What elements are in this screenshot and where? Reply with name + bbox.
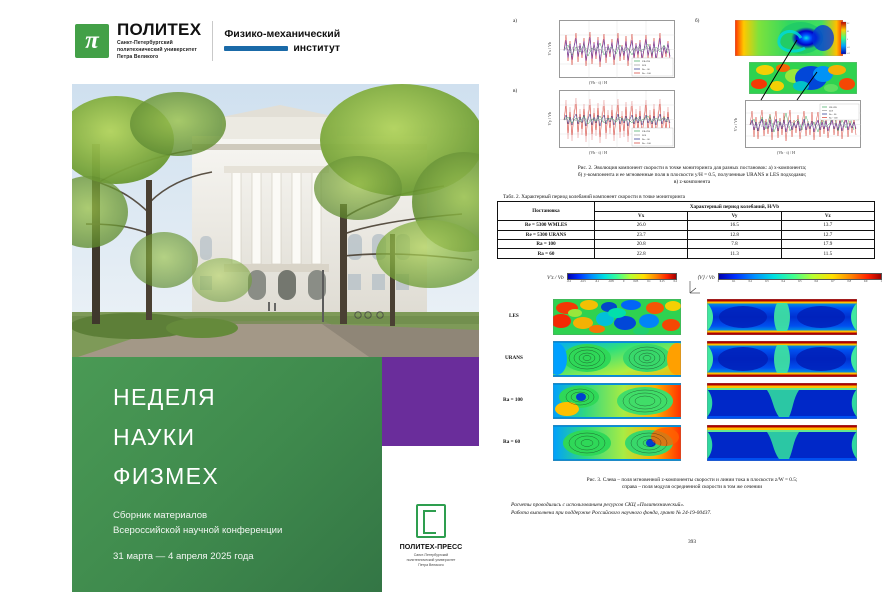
polytech-brand: ПОЛИТЕХ — [117, 21, 201, 38]
press-name: ПОЛИТЕХ-ПРЕСС — [395, 543, 467, 551]
fig2-chart-b-ylabel: V'z / Vb — [733, 118, 738, 131]
fig3-left-panel-urans — [553, 341, 681, 382]
fig2-chart-v: URANSLES Ra = 60Ra = 100 — [559, 90, 675, 148]
figure-2: а) б) в) — [497, 12, 887, 162]
table-cell: 7.8 — [688, 239, 781, 248]
fig2-panel-a-label: а) — [513, 18, 517, 24]
cb-tick: 0 — [718, 280, 719, 283]
cover-subtitle-line-1: Сборник материалов — [113, 509, 282, 524]
table-header-row: Постановка Характерный период колебаний,… — [498, 202, 875, 211]
table-cell: 11.3 — [688, 249, 781, 258]
fig3-row-label-ra60: Ra = 60 — [503, 439, 520, 445]
fig3-right-colorbar — [718, 273, 882, 280]
fig3-right-panel-ra60 — [707, 425, 857, 466]
table-cell: 12.7 — [781, 230, 874, 239]
fig2-chart-b-xlabel: (Vb · t) / H — [777, 150, 795, 155]
table-cell: 26.0 — [595, 221, 688, 230]
fig3-axis-triad-icon — [687, 279, 701, 295]
svg-text:URANS: URANS — [642, 130, 651, 133]
cover-title-line-2: НАУКИ — [113, 418, 219, 458]
polytech-pi-logo-icon: π — [75, 24, 109, 58]
svg-text:Ra = 60: Ra = 60 — [642, 68, 650, 71]
polytech-brand-sub: Санкт-Петербургский политехнический унив… — [117, 40, 201, 61]
svg-text:Ra = 100: Ra = 100 — [642, 142, 652, 145]
fig3-left-panel-ra100 — [553, 383, 681, 424]
cb-tick: 0.8 — [848, 280, 851, 283]
slide-root: π ПОЛИТЕХ Санкт-Петербургский политехнич… — [0, 0, 890, 593]
fig2-chart-v-ylabel: V'y / Vb — [547, 112, 552, 126]
fig2-caption-line-1: Рис. 2. Эволюция компонент скорости в то… — [503, 165, 881, 172]
table-cell: 16.5 — [688, 221, 781, 230]
fig3-row-label-ra100: Ra = 100 — [503, 397, 523, 403]
table-row-label: Re = 5300 URANS — [498, 230, 595, 239]
fig3-left-colorbar-ticks: -0.2 -0.15 -0.1 -0.05 0 0.05 0.1 0.15 0.… — [567, 280, 677, 283]
fig3-right-colorbar-ticks: 0 0.1 0.2 0.3 0.4 0.5 0.6 0.7 0.8 0.9 1 — [718, 280, 882, 283]
figure-2-caption: Рис. 2. Эволюция компонент скорости в то… — [497, 165, 887, 186]
cover-title: НЕДЕЛЯ НАУКИ ФИЗМЕХ — [113, 378, 219, 497]
fig2-panel-b-label: б) — [695, 18, 699, 24]
cb-tick: 0 — [623, 280, 624, 283]
cb-tick: 1 — [881, 280, 882, 283]
polytech-press-logo: ПОЛИТЕХ-ПРЕСС Санкт-Петербургский полите… — [395, 504, 467, 568]
fig3-left-colorbar — [567, 273, 677, 280]
fig2-chart-v-xlabel: (Vb · t) / H — [589, 150, 607, 155]
table-row-label: Ra = 60 — [498, 249, 595, 258]
institute-accent-bar — [224, 46, 288, 51]
cb-tick: 0.3 — [765, 280, 768, 283]
cover-title-line-1: НЕДЕЛЯ — [113, 378, 219, 418]
cover-photo-main-building — [72, 84, 479, 359]
cb-tick: 0.6 — [815, 280, 818, 283]
figure-3-caption: Рис. 3. Слева – поля мгновенной z-компон… — [497, 477, 887, 491]
cb-tick: -0.2 — [567, 280, 571, 283]
cb-tick: 0.05 — [633, 280, 638, 283]
cover-subtitle: Сборник материалов Всероссийской научной… — [113, 509, 282, 539]
fig3-left-panel-ra60 — [553, 425, 681, 466]
acknowledgement-note: Расчеты проводились с использованием рес… — [497, 501, 887, 518]
institute-line1: Физико-механический — [224, 27, 340, 41]
table-group-header: Характерный период колебаний, H/Vb — [595, 202, 875, 211]
fig3-caption-line-2: справа – поля модуля осредненной скорост… — [507, 484, 877, 491]
fig3-left-colorbar-label: V'z / Vb — [547, 275, 564, 281]
cb-tick: 0.5 — [798, 280, 801, 283]
footnote-line-1: Расчеты проводились с использованием рес… — [511, 501, 873, 509]
open-book-icon — [416, 504, 446, 538]
svg-text:Ra = 60: Ra = 60 — [642, 138, 650, 141]
cb-tick: 0.2 — [749, 280, 752, 283]
fig3-left-colorbar-group: V'z / Vb -0.2 -0.15 -0.1 -0.05 0 0.05 0.… — [547, 273, 677, 283]
svg-text:URANS: URANS — [642, 60, 651, 63]
fig2-chart-b: URANSLES Ra = 60Ra = 100 — [745, 100, 861, 148]
table-row-label: Re = 5300 WMLES — [498, 221, 595, 230]
table-sub-header-vx: Vx — [595, 211, 688, 220]
svg-text:Ra = 100: Ra = 100 — [829, 117, 838, 119]
cover-date: 31 марта — 4 апреля 2025 года — [113, 551, 254, 562]
cover-header: π ПОЛИТЕХ Санкт-Петербургский политехнич… — [75, 18, 340, 64]
fig3-left-panel-les — [553, 299, 681, 340]
table-col0-header: Постановка — [498, 202, 595, 221]
table-row: Ra = 60 22.8 11.3 11.5 — [498, 249, 875, 258]
fig3-row-label-les: LES — [509, 313, 519, 319]
fig3-right-panel-urans — [707, 341, 857, 382]
table-cell: 20.8 — [595, 239, 688, 248]
table-cell: 23.7 — [595, 230, 688, 239]
cb-tick: 0.7 — [831, 280, 834, 283]
table-cell: 17.9 — [781, 239, 874, 248]
cover-purple-block — [382, 357, 479, 446]
pi-glyph: π — [75, 24, 109, 58]
cb-tick: 0.1 — [732, 280, 735, 283]
article-page: а) б) в) — [497, 12, 887, 580]
svg-text:0.2: 0.2 — [847, 23, 849, 25]
fig3-right-panel-les — [707, 299, 857, 340]
fig2-leader-lines — [735, 32, 865, 106]
table-row: Re = 5300 WMLES 26.0 16.5 13.7 — [498, 221, 875, 230]
fig3-row-label-urans: URANS — [505, 355, 523, 361]
fig2-panel-v-label: в) — [513, 88, 517, 94]
fig2-chart-a-ylabel: V'x / Vb — [547, 42, 552, 56]
cb-tick: 0.4 — [782, 280, 785, 283]
table-sub-header-vy: Vy — [688, 211, 781, 220]
fig3-right-panel-ra100 — [707, 383, 857, 424]
institute-line2: институт — [293, 42, 340, 54]
header-divider — [212, 21, 213, 61]
fig3-caption-line-1: Рис. 3. Слева – поля мгновенной z-компон… — [507, 477, 877, 484]
table-cell: 12.8 — [688, 230, 781, 239]
table-2-caption: Табл. 2. Характерный период колебаний ко… — [503, 194, 887, 200]
fig2-caption-line-2: б) y-компонента и ее мгновенные поля в п… — [503, 172, 881, 179]
svg-text:LES: LES — [829, 110, 834, 112]
cb-tick: -0.05 — [608, 280, 614, 283]
table-row: Ra = 100 20.8 7.8 17.9 — [498, 239, 875, 248]
fig2-chart-a: URANSLES Ra = 60Ra = 100 — [559, 20, 675, 78]
fig2-chart-a-xlabel: (Vb · t) / H — [589, 80, 607, 85]
conference-proceedings-cover: π ПОЛИТЕХ Санкт-Петербургский политехнич… — [33, 12, 483, 580]
table-row-label: Ra = 100 — [498, 239, 595, 248]
cb-tick: -0.15 — [580, 280, 586, 283]
figure-3: V'z / Vb -0.2 -0.15 -0.1 -0.05 0 0.05 0.… — [497, 273, 887, 473]
footnote-line-2: Работа выполнена при поддержке Российско… — [511, 509, 873, 517]
fig2-caption-line-3: в) z-компонента — [503, 179, 881, 186]
cb-tick: 0.9 — [864, 280, 867, 283]
cb-tick: 0.1 — [647, 280, 650, 283]
table-2-block: Табл. 2. Характерный период колебаний ко… — [497, 194, 887, 259]
fig3-right-colorbar-group: ⟨V⟩ / Vb 0 0.1 0.2 0.3 0.4 0.5 0.6 0.7 — [697, 273, 882, 283]
institute-name: Физико-механический институт — [224, 27, 340, 55]
cb-tick: -0.1 — [595, 280, 599, 283]
cb-tick: 0.15 — [660, 280, 665, 283]
table-row: Re = 5300 URANS 23.7 12.8 12.7 — [498, 230, 875, 239]
svg-text:LES: LES — [642, 134, 647, 137]
table-2: Постановка Характерный период колебаний,… — [497, 201, 875, 258]
polytech-wordmark: ПОЛИТЕХ Санкт-Петербургский политехничес… — [117, 21, 201, 61]
cb-tick: 0.2 — [674, 280, 677, 283]
page-number: 393 — [497, 539, 887, 545]
table-cell: 13.7 — [781, 221, 874, 230]
svg-text:Ra = 100: Ra = 100 — [642, 72, 652, 75]
table-sub-header-vz: Vz — [781, 211, 874, 220]
table-cell: 22.8 — [595, 249, 688, 258]
svg-text:URANS: URANS — [829, 106, 838, 109]
press-sub: Санкт-Петербургский политехнический унив… — [395, 553, 467, 568]
table-cell: 11.5 — [781, 249, 874, 258]
svg-text:LES: LES — [642, 64, 647, 67]
svg-text:Ra = 60: Ra = 60 — [829, 114, 837, 116]
cover-subtitle-line-2: Всероссийской научной конференции — [113, 524, 282, 539]
cover-title-line-3: ФИЗМЕХ — [113, 457, 219, 497]
